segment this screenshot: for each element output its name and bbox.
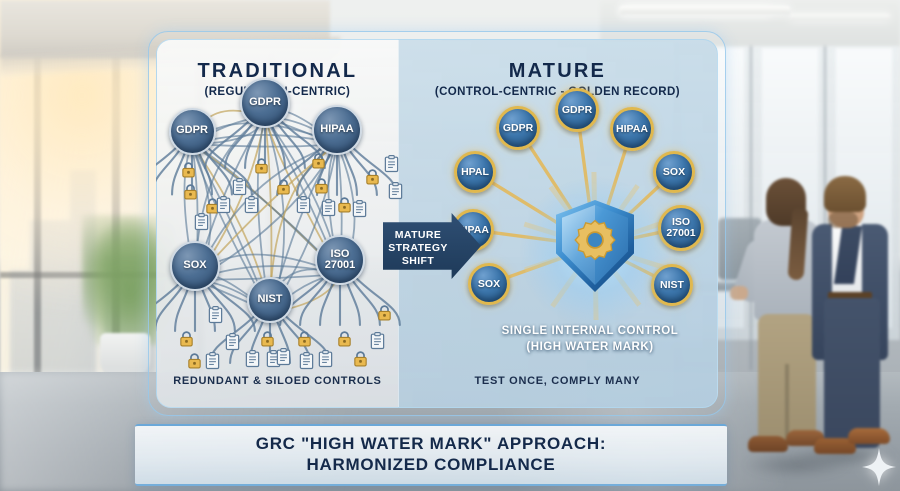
bottom-banner: GRC "HIGH WATER MARK" APPROACH: HARMONIZ…: [135, 424, 727, 486]
banner-line-2: HARMONIZED COMPLIANCE: [256, 455, 606, 476]
caption-line-1: SINGLE INTERNAL CONTROL: [460, 324, 720, 340]
arrow-label: MATURE STRATEGY SHIFT: [383, 229, 453, 267]
shield-caption: SINGLE INTERNAL CONTROL (HIGH WATER MARK…: [460, 324, 720, 355]
regulation-node-hpal: HPAL: [454, 151, 496, 193]
node-label: SOX: [183, 260, 206, 271]
node-label: HIPAA: [320, 124, 353, 135]
node-label: GDPR: [562, 105, 592, 116]
arrow-line-3: SHIFT: [383, 255, 453, 268]
regulation-node-nist: NIST: [247, 277, 293, 323]
regulation-node-gdpr: GDPR: [555, 88, 599, 132]
regulation-node-sox: SOX: [170, 241, 220, 291]
arrow-line-1: MATURE: [383, 229, 453, 242]
banner-title: GRC "HIGH WATER MARK" APPROACH: HARMONIZ…: [256, 434, 606, 475]
regulation-node-hipaa: HIPAA: [610, 107, 654, 151]
gear-icon: [573, 218, 617, 262]
banner-line-1: GRC "HIGH WATER MARK" APPROACH:: [256, 434, 606, 455]
node-label: GDPR: [503, 123, 533, 134]
node-label: GDPR: [249, 97, 281, 108]
regulation-node-iso-27001: ISO27001: [315, 235, 365, 285]
caption-line-2: (HIGH WATER MARK): [460, 340, 720, 356]
regulation-node-gdpr: GDPR: [169, 108, 216, 155]
node-label: ISO27001: [325, 249, 356, 271]
arrow-line-2: STRATEGY: [383, 242, 453, 255]
infographic-stage: TRADITIONAL (REGULATION-CENTRIC) MATURE …: [0, 0, 900, 491]
node-label: HIPAA: [616, 124, 648, 135]
regulation-node-gdpr: GDPR: [240, 78, 290, 128]
mature-strategy-shift-arrow: MATURE STRATEGY SHIFT: [383, 213, 481, 279]
node-label: NIST: [257, 294, 282, 305]
regulation-node-hipaa: HIPAA: [312, 105, 362, 155]
regulation-node-gdpr: GDPR: [496, 106, 540, 150]
node-label: GDPR: [176, 125, 208, 136]
node-label: HPAL: [461, 167, 489, 178]
node-label: SOX: [478, 279, 500, 290]
